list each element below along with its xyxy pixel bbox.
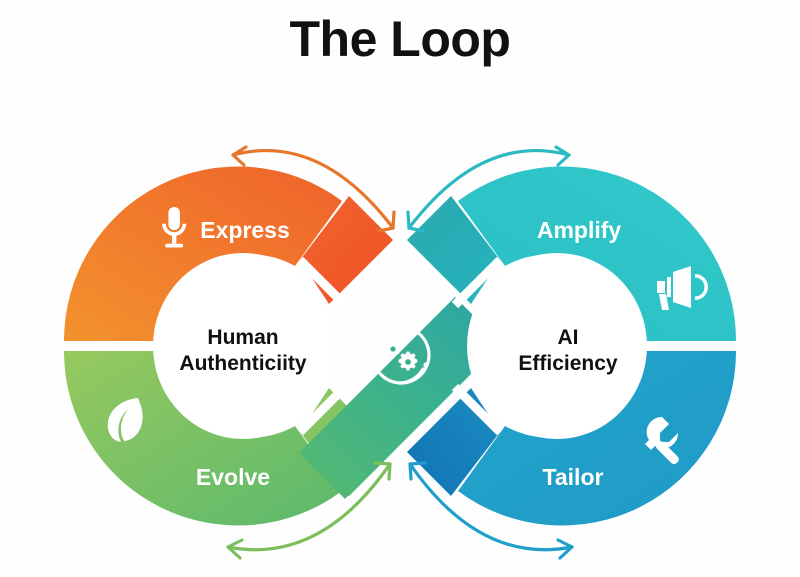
segment-label-tailor: Tailor [543, 464, 604, 490]
infographic-canvas: The Loop [0, 0, 800, 577]
right-hub-line1: AI [558, 326, 579, 349]
segment-label-amplify: Amplify [537, 217, 622, 243]
segment-label-express: Express [200, 217, 290, 243]
right-hub-line2: Efficiency [518, 352, 618, 375]
left-hub-line1: Human [207, 326, 278, 349]
loop-diagram: Human Authenticiity AI Efficiency Expres… [0, 0, 800, 577]
left-hub-line2: Authenticiity [179, 352, 306, 375]
segment-label-evolve: Evolve [196, 464, 270, 490]
